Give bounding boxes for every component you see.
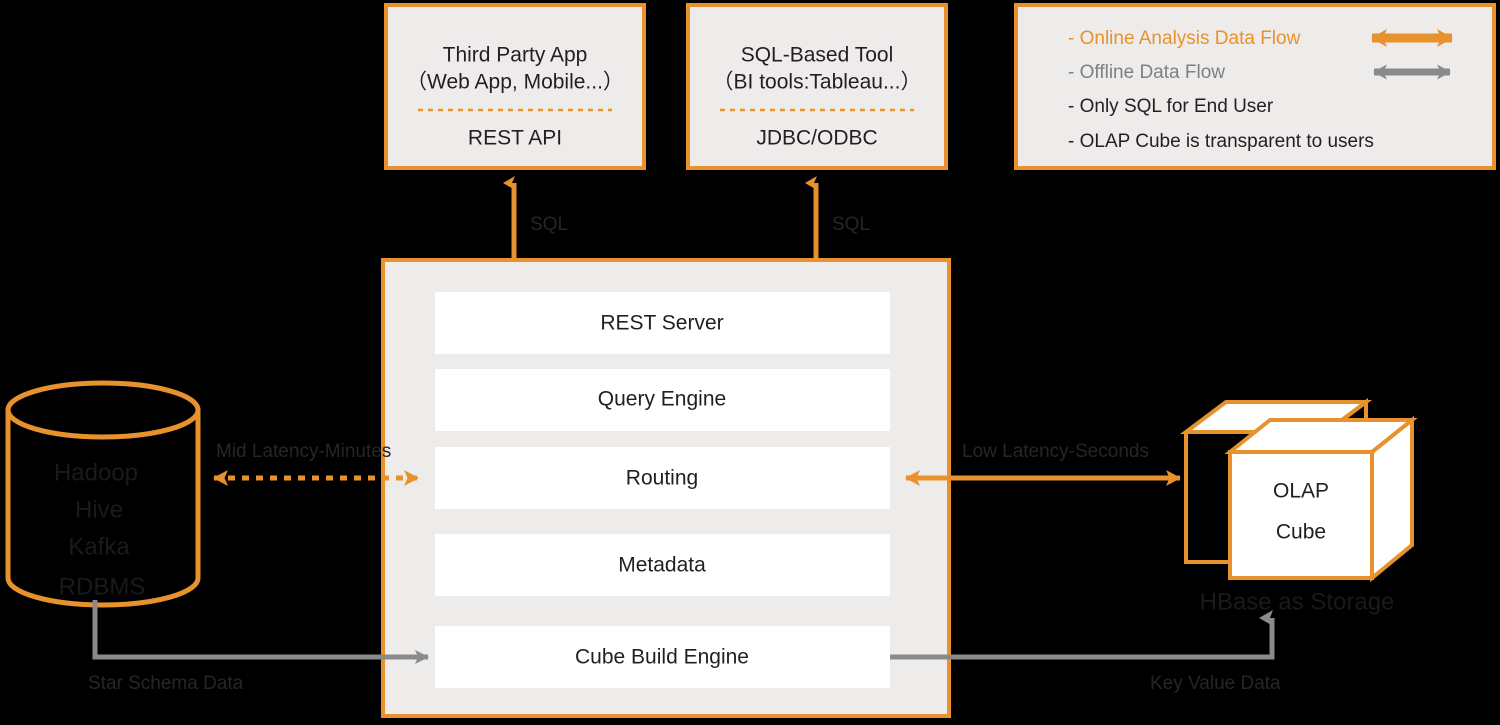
core-row-label: Query Engine [598, 388, 726, 411]
cube-label-line: Cube [1276, 521, 1326, 544]
diagram-canvas: Third Party App （Web App, Mobile...） RES… [0, 0, 1500, 725]
core-row-label: Cube Build Engine [575, 646, 749, 669]
core-row-cube-build-engine[interactable]: Cube Build Engine [435, 626, 890, 688]
core-row-rest-server[interactable]: REST Server [435, 292, 890, 354]
core-row-metadata[interactable]: Metadata [435, 534, 890, 596]
client-interface: JDBC/ODBC [756, 127, 877, 150]
client-box-third-party-app[interactable]: Third Party App （Web App, Mobile...） RES… [386, 5, 644, 168]
core-row-label: Routing [626, 467, 698, 490]
data-source-line: RDBMS [59, 573, 146, 600]
architecture-diagram: Third Party App （Web App, Mobile...） RES… [0, 0, 1500, 725]
legend-item-offline-data-flow: - Offline Data Flow [1068, 62, 1225, 83]
olap-cube[interactable]: OLAP Cube [1186, 402, 1412, 578]
connector-label-mid-latency: Mid Latency-Minutes [216, 441, 391, 462]
connector-label-sql: SQL [530, 214, 568, 235]
core-row-label: REST Server [600, 312, 723, 335]
core-panel: REST Server Query Engine Routing Metadat… [383, 260, 949, 716]
legend-item-olap-cube-transparent: - OLAP Cube is transparent to users [1068, 131, 1374, 152]
legend-item-online-analysis-data-flow: - Online Analysis Data Flow [1068, 28, 1301, 49]
core-row-routing[interactable]: Routing [435, 447, 890, 509]
legend-box: - Online Analysis Data Flow - Offline Da… [1016, 5, 1494, 168]
core-row-label: Metadata [618, 554, 706, 577]
cube-label-line: OLAP [1273, 480, 1329, 503]
connector-label-star-schema: Star Schema Data [88, 673, 244, 694]
core-row-query-engine[interactable]: Query Engine [435, 369, 890, 431]
client-subtitle: （BI tools:Tableau...） [713, 71, 922, 94]
client-title: SQL-Based Tool [741, 44, 894, 67]
connector-star-schema: Star Schema Data [88, 600, 428, 694]
data-source-line: Hadoop [54, 459, 138, 486]
legend-item-only-sql-for-end-user: - Only SQL for End User [1068, 96, 1274, 117]
connector-label-sql: SQL [832, 214, 870, 235]
connector-label-key-value: Key Value Data [1150, 673, 1281, 694]
client-interface: REST API [468, 127, 562, 150]
star-schema-arrow [95, 600, 428, 657]
connector-label-low-latency: Low Latency-Seconds [962, 441, 1149, 462]
client-title: Third Party App [443, 44, 588, 67]
client-subtitle: （Web App, Mobile...） [406, 71, 624, 94]
storage-caption: HBase as Storage [1200, 588, 1395, 615]
data-source-line: Kafka [68, 533, 130, 560]
data-source-cylinder[interactable]: Hadoop Hive Kafka RDBMS [8, 383, 198, 605]
client-box-sql-based-tool[interactable]: SQL-Based Tool （BI tools:Tableau...） JDB… [688, 5, 946, 168]
data-source-line: Hive [75, 496, 123, 523]
